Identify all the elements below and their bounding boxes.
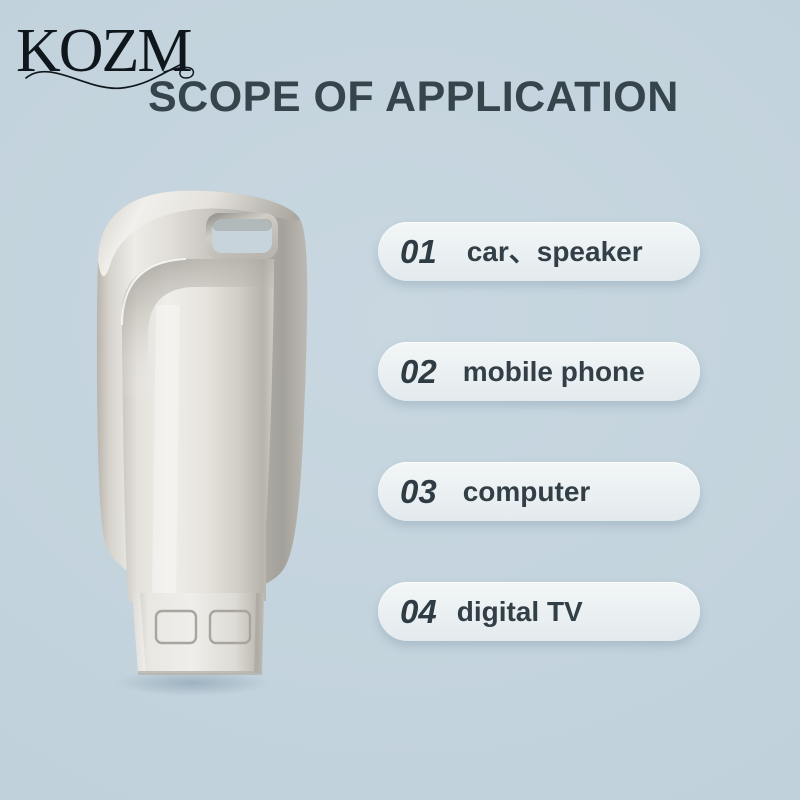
list-item[interactable]: 03 computer [378, 462, 700, 521]
list-item-index: 02 [400, 355, 437, 388]
usb-connector-tip [138, 671, 262, 675]
list-item[interactable]: 01 car、speaker [378, 222, 700, 281]
infographic-page: KOZM SCOPE OF APPLICATION [0, 0, 800, 800]
application-list: 01 car、speaker 02 mobile phone 03 comput… [378, 222, 700, 641]
list-item-label: car、speaker [467, 238, 643, 266]
list-item-label: computer [463, 478, 591, 506]
list-item-label: digital TV [457, 598, 583, 626]
usb-a-connector [132, 593, 264, 673]
usb-specular-highlight [152, 305, 180, 599]
keyring-hole-shadow [212, 219, 272, 231]
list-item[interactable]: 04 digital TV [378, 582, 700, 641]
usb-flash-drive-image [60, 165, 350, 705]
page-title: SCOPE OF APPLICATION [148, 74, 679, 121]
list-item-index: 01 [400, 235, 437, 268]
list-item-index: 04 [400, 595, 437, 628]
list-item-label: mobile phone [463, 358, 645, 386]
list-item-index: 03 [400, 475, 437, 508]
list-item[interactable]: 02 mobile phone [378, 342, 700, 401]
